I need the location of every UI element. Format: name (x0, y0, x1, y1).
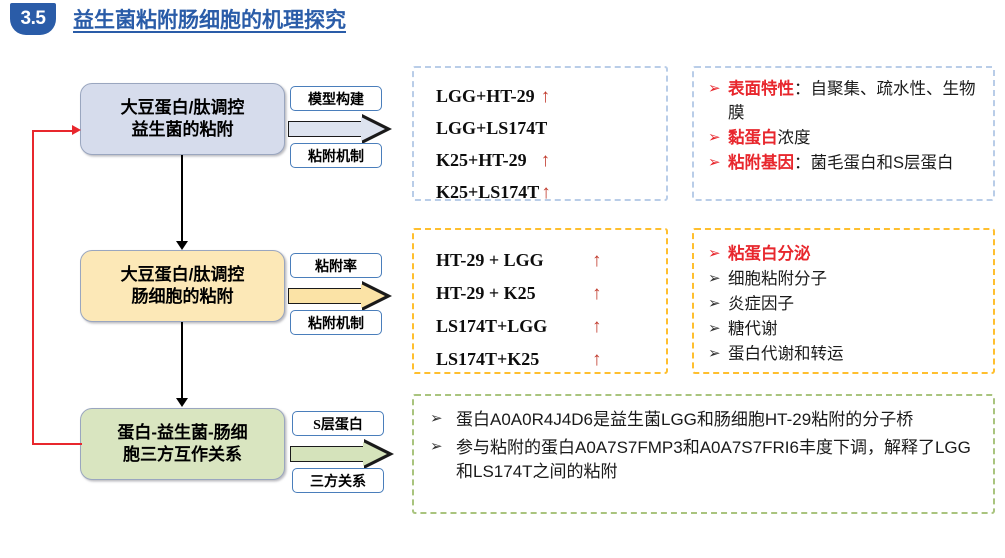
result-item: LGG+HT-29 ↑ (436, 80, 563, 112)
up-arrow-icon: ↑ (592, 350, 602, 369)
up-arrow-icon: ↑ (592, 317, 602, 336)
up-arrow-icon: ↑ (592, 251, 602, 270)
mechanism-list-row1: ➢ 表面特性：自聚集、疏水性、生物膜 ➢ 黏蛋白浓度 ➢ 粘附基因：菌毛蛋白和S… (708, 78, 983, 177)
result-label: LS174T+K25 (436, 349, 586, 370)
stage-box-3-line2: 胞三方互作关系 (117, 444, 247, 466)
results-list-row1: LGG+HT-29 ↑ LGG+LS174T ↑ K25+HT-29 ↑ K25… (436, 80, 563, 208)
list-item-text: 炎症因子 (728, 293, 794, 317)
list-item: ➢ 炎症因子 (708, 293, 983, 317)
list-item-text: 蛋白A0A0R4J4D6是益生菌LGG和肠细胞HT-29粘附的分子桥 (456, 408, 913, 432)
result-item: K25+HT-29 ↑ (436, 144, 563, 176)
list-item: ➢ 表面特性：自聚集、疏水性、生物膜 (708, 78, 983, 126)
list-item: ➢ 糖代谢 (708, 318, 983, 342)
stage-box-2-line2: 肠细胞的粘附 (121, 286, 245, 308)
feedback-loop-vertical-segment (32, 130, 34, 445)
list-item-highlight: 表面特性 (728, 80, 794, 98)
feedback-loop-bottom-segment (32, 443, 82, 445)
list-item-text: 细胞粘附分子 (728, 268, 827, 292)
result-label: K25+LS174T (436, 182, 539, 203)
result-item: LS174T+LGG ↑ (436, 310, 602, 343)
connector-arrow-1-line (181, 155, 183, 243)
result-label: LGG+LS174T (436, 118, 547, 139)
block-arrow-row1-icon (288, 114, 393, 144)
list-item: ➢ 黏蛋白浓度 (708, 127, 983, 151)
list-item-highlight: 黏蛋白 (728, 129, 778, 147)
up-arrow-icon: ↑ (541, 183, 551, 202)
mechanism-list-row2: ➢ 粘蛋白分泌 ➢ 细胞粘附分子 ➢ 炎症因子 ➢ 糖代谢 ➢ 蛋白代谢和转运 (708, 243, 983, 368)
stage-box-2-line1: 大豆蛋白/肽调控 (121, 264, 245, 286)
list-item: ➢ 蛋白代谢和转运 (708, 343, 983, 367)
list-item: ➢ 粘附基因：菌毛蛋白和S层蛋白 (708, 152, 983, 176)
results-panel-row2: HT-29 + LGG ↑ HT-29 + K25 ↑ LS174T+LGG ↑… (412, 228, 668, 374)
list-item-text: 黏蛋白浓度 (728, 127, 811, 151)
list-item-text: 表面特性：自聚集、疏水性、生物膜 (728, 78, 983, 126)
connector-arrow-2-head-icon (176, 398, 188, 407)
list-item-rest: ：菌毛蛋白和S层蛋白 (794, 154, 954, 172)
result-label: HT-29 + K25 (436, 283, 586, 304)
list-item-rest: 浓度 (778, 129, 811, 147)
tag-row3-top[interactable]: S层蛋白 (292, 411, 384, 436)
tag-row1-bottom[interactable]: 粘附机制 (290, 143, 382, 168)
mechanism-panel-row2: ➢ 粘蛋白分泌 ➢ 细胞粘附分子 ➢ 炎症因子 ➢ 糖代谢 ➢ 蛋白代谢和转运 (692, 228, 995, 374)
conclusion-list-row3: ➢ 蛋白A0A0R4J4D6是益生菌LGG和肠细胞HT-29粘附的分子桥 ➢ 参… (430, 408, 979, 485)
result-label: HT-29 + LGG (436, 250, 586, 271)
bullet-arrow-icon: ➢ (708, 78, 728, 100)
bullet-arrow-icon: ➢ (708, 293, 728, 315)
result-item: K25+LS174T ↑ (436, 176, 563, 208)
up-arrow-icon: ↑ (541, 151, 551, 170)
bullet-arrow-icon: ➢ (430, 436, 456, 458)
list-item-text: 粘附基因：菌毛蛋白和S层蛋白 (728, 152, 954, 176)
list-item: ➢ 细胞粘附分子 (708, 268, 983, 292)
stage-box-3-line1: 蛋白-益生菌-肠细 (117, 422, 247, 444)
connector-arrow-2-line (181, 322, 183, 400)
tag-row2-bottom[interactable]: 粘附机制 (290, 310, 382, 335)
list-item-text: 粘蛋白分泌 (728, 243, 811, 267)
feedback-loop-arrow-head-icon (72, 125, 81, 135)
block-arrow-row3-icon (290, 439, 395, 469)
list-item: ➢ 粘蛋白分泌 (708, 243, 983, 267)
tag-row2-top[interactable]: 粘附率 (290, 253, 382, 278)
diagram-canvas: 3.5 益生菌粘附肠细胞的机理探究 大豆蛋白/肽调控 益生菌的粘附 大豆蛋白/肽… (0, 0, 1005, 558)
result-item: LGG+LS174T ↑ (436, 112, 563, 144)
page-title-row: 3.5 益生菌粘附肠细胞的机理探究 (10, 2, 346, 36)
bullet-arrow-icon: ➢ (708, 268, 728, 290)
bullet-arrow-icon: ➢ (708, 127, 728, 149)
page-title: 益生菌粘附肠细胞的机理探究 (73, 4, 346, 34)
result-item: LS174T+K25 ↑ (436, 343, 602, 376)
stage-box-2[interactable]: 大豆蛋白/肽调控 肠细胞的粘附 (80, 250, 285, 322)
list-item-text: 蛋白代谢和转运 (728, 343, 844, 367)
result-item: HT-29 + K25 ↑ (436, 277, 602, 310)
result-item: HT-29 + LGG ↑ (436, 244, 602, 277)
list-item: ➢ 参与粘附的蛋白A0A7S7FMP3和A0A7S7FRI6丰度下调，解释了LG… (430, 436, 979, 484)
up-arrow-icon: ↑ (592, 284, 602, 303)
bullet-arrow-icon: ➢ (708, 243, 728, 265)
feedback-loop-top-segment (32, 130, 74, 132)
result-label: K25+HT-29 (436, 150, 527, 171)
mechanism-panel-row1: ➢ 表面特性：自聚集、疏水性、生物膜 ➢ 黏蛋白浓度 ➢ 粘附基因：菌毛蛋白和S… (692, 66, 995, 201)
block-arrow-row2-icon (288, 281, 393, 311)
bullet-arrow-icon: ➢ (708, 152, 728, 174)
up-arrow-icon: ↑ (541, 87, 551, 106)
tag-row3-bottom[interactable]: 三方关系 (292, 468, 384, 493)
results-panel-row1: LGG+HT-29 ↑ LGG+LS174T ↑ K25+HT-29 ↑ K25… (412, 66, 668, 201)
stage-box-1[interactable]: 大豆蛋白/肽调控 益生菌的粘附 (80, 83, 285, 155)
stage-box-1-line1: 大豆蛋白/肽调控 (121, 97, 245, 119)
bullet-arrow-icon: ➢ (430, 408, 456, 430)
bullet-arrow-icon: ➢ (708, 318, 728, 340)
list-item-text: 糖代谢 (728, 318, 778, 342)
result-label: LGG+HT-29 (436, 86, 535, 107)
list-item-text: 参与粘附的蛋白A0A7S7FMP3和A0A7S7FRI6丰度下调，解释了LGG和… (456, 436, 979, 484)
stage-box-3[interactable]: 蛋白-益生菌-肠细 胞三方互作关系 (80, 408, 285, 480)
bullet-arrow-icon: ➢ (708, 343, 728, 365)
list-item-highlight: 粘附基因 (728, 154, 794, 172)
conclusion-panel-row3: ➢ 蛋白A0A0R4J4D6是益生菌LGG和肠细胞HT-29粘附的分子桥 ➢ 参… (412, 394, 995, 514)
list-item: ➢ 蛋白A0A0R4J4D6是益生菌LGG和肠细胞HT-29粘附的分子桥 (430, 408, 979, 432)
tag-row1-top[interactable]: 模型构建 (290, 86, 382, 111)
stage-box-1-line2: 益生菌的粘附 (121, 119, 245, 141)
section-number-badge: 3.5 (10, 3, 56, 35)
results-list-row2: HT-29 + LGG ↑ HT-29 + K25 ↑ LS174T+LGG ↑… (436, 244, 602, 376)
connector-arrow-1-head-icon (176, 241, 188, 250)
result-label: LS174T+LGG (436, 316, 586, 337)
